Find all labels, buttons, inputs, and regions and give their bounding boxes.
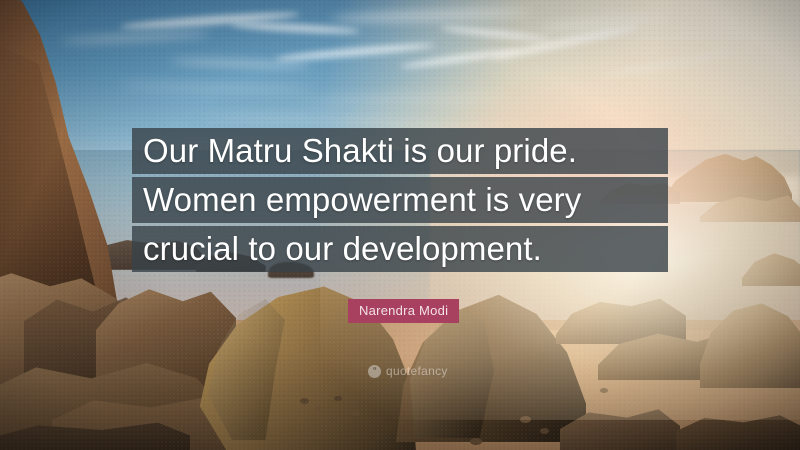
quote-poster: Our Matru Shakti is our pride. Women emp… bbox=[0, 0, 800, 450]
pebble-shape bbox=[316, 406, 323, 411]
pebble-shape bbox=[300, 398, 309, 404]
watermark: “ quotefancy bbox=[368, 364, 448, 378]
pebble-shape bbox=[334, 396, 342, 401]
pebble-shape bbox=[520, 416, 531, 423]
quote-line: Women empowerment is very bbox=[132, 177, 668, 223]
quote-line: Our Matru Shakti is our pride. bbox=[132, 128, 668, 174]
watermark-brand: quotefancy bbox=[386, 364, 448, 378]
quote-mark-icon: “ bbox=[368, 365, 381, 378]
author-badge: Narendra Modi bbox=[348, 299, 459, 323]
pebble-shape bbox=[540, 428, 549, 434]
quote-text-block: Our Matru Shakti is our pride. Women emp… bbox=[132, 128, 668, 272]
quote-line: crucial to our development. bbox=[132, 226, 668, 272]
pebble-shape bbox=[600, 388, 608, 393]
pebble-shape bbox=[350, 410, 360, 416]
pebble-shape bbox=[470, 438, 482, 445]
